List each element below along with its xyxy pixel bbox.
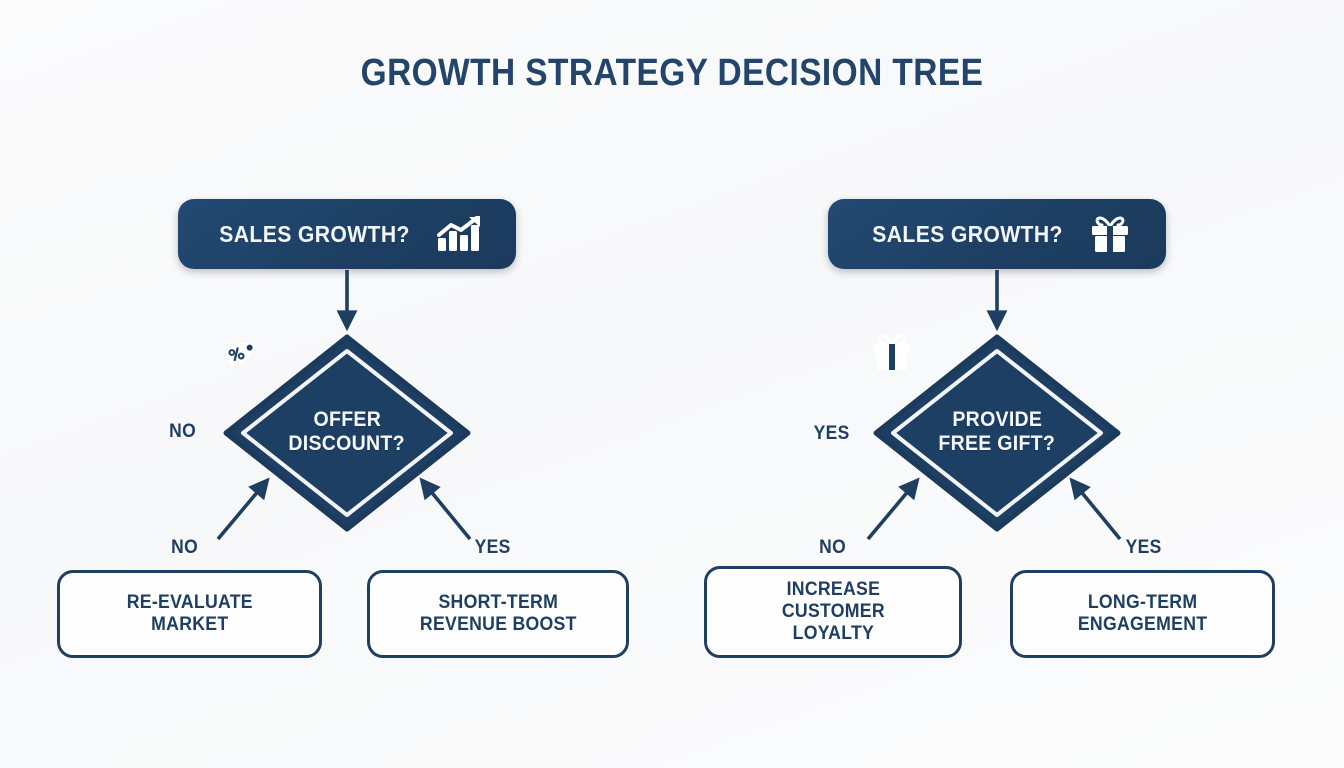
root-node-sales-growth-gift[interactable]: SALES GROWTH? xyxy=(828,199,1166,269)
outcome-label: LONG-TERM ENGAGEMENT xyxy=(1078,592,1207,636)
outcome-label: SHORT-TERM REVENUE BOOST xyxy=(420,592,577,636)
root-node-label: SALES GROWTH? xyxy=(220,221,411,248)
edge-label-right-side-yes: YES xyxy=(814,423,850,445)
gift-box-icon xyxy=(1090,215,1130,253)
outcome-long-term-engagement[interactable]: LONG-TERM ENGAGEMENT xyxy=(1010,570,1275,658)
edge-label-right-branch-no: NO xyxy=(819,537,846,559)
outcome-short-term-revenue-boost[interactable]: SHORT-TERM REVENUE BOOST xyxy=(367,570,629,658)
edge-label-left-branch-no: NO xyxy=(171,537,198,559)
edge-label-right-branch-yes: YES xyxy=(1126,537,1162,559)
outcome-increase-customer-loyalty[interactable]: INCREASE CUSTOMER LOYALTY xyxy=(704,566,962,658)
root-node-sales-growth-discount[interactable]: SALES GROWTH? xyxy=(178,199,516,269)
outcome-label: INCREASE CUSTOMER LOYALTY xyxy=(781,579,884,645)
outcome-re-evaluate-market[interactable]: RE-EVALUATE MARKET xyxy=(57,570,322,658)
edge-label-left-side-no: NO xyxy=(169,421,196,443)
page-title: GROWTH STRATEGY DECISION TREE xyxy=(81,52,1264,95)
outcome-label: RE-EVALUATE MARKET xyxy=(126,592,252,636)
edge-label-left-branch-yes: YES xyxy=(475,537,511,559)
decision-node-offer-discount[interactable]: OFFER DISCOUNT? xyxy=(222,333,472,533)
decision-node-provide-free-gift[interactable]: PROVIDE FREE GIFT? xyxy=(872,333,1122,533)
bar-chart-growth-icon xyxy=(437,216,483,252)
root-node-label: SALES GROWTH? xyxy=(873,221,1064,248)
decision-tree-canvas: GROWTH STRATEGY DECISION TREE SALES GROW… xyxy=(0,0,1344,768)
